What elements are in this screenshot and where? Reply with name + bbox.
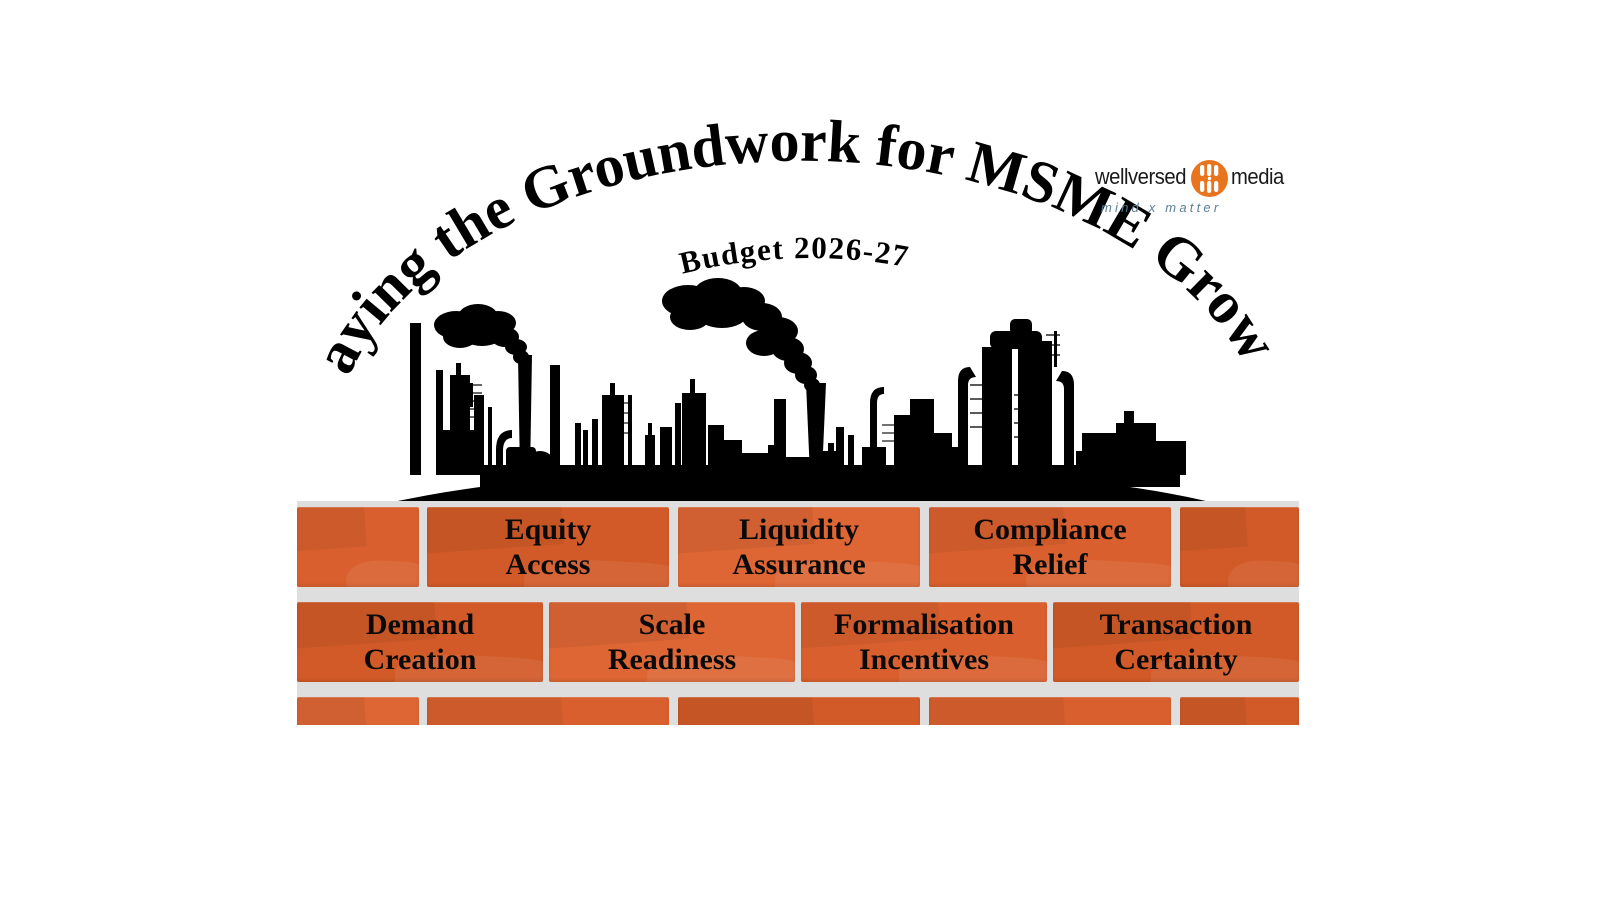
brick-filler [1180, 697, 1299, 725]
logo-tagline: mind x matter [1101, 200, 1221, 215]
brick-filler [678, 697, 920, 725]
brick-pillar[interactable]: Compliance Relief [929, 507, 1171, 587]
brick-pillar[interactable]: Formalisation Incentives [801, 602, 1047, 682]
logo-word-right: media [1231, 164, 1284, 190]
brick-label: Equity Access [499, 512, 598, 583]
brick-row-1: Equity AccessLiquidity AssuranceComplian… [297, 507, 1299, 587]
brick-row-2: Demand CreationScale ReadinessFormalisat… [297, 602, 1299, 682]
brick-pillar[interactable]: Demand Creation [297, 602, 543, 682]
brick-row-3 [297, 697, 1299, 725]
factory-silhouette-svg [370, 275, 1230, 510]
brick-pillar[interactable]: Scale Readiness [549, 602, 795, 682]
brick-label: Formalisation Incentives [828, 607, 1020, 678]
smoke-plume-left [434, 304, 529, 364]
brick-filler [1180, 507, 1299, 587]
brick-filler [929, 697, 1171, 725]
brick-label: Compliance Relief [967, 512, 1132, 583]
industrial-skyline-illustration [370, 275, 1230, 510]
brick-filler [297, 507, 419, 587]
brick-pillar[interactable]: Transaction Certainty [1053, 602, 1299, 682]
brick-pillar[interactable]: Equity Access [427, 507, 669, 587]
brick-pillar[interactable]: Liquidity Assurance [678, 507, 920, 587]
brick-label: Transaction Certainty [1094, 607, 1259, 678]
brick-filler [297, 697, 419, 725]
brick-label: Demand Creation [358, 607, 483, 678]
logo-wordmark-row: wellversed media [1095, 160, 1295, 194]
poster-canvas: Laying the Groundwork for MSME Growth Bu… [0, 0, 1600, 900]
circle-emblem-icon [1191, 160, 1228, 197]
brick-label: Scale Readiness [602, 607, 742, 678]
logo-word-left: wellversed [1095, 164, 1186, 190]
brick-label: Liquidity Assurance [726, 512, 871, 583]
brick-wall: Equity AccessLiquidity AssuranceComplian… [297, 501, 1299, 725]
smoke-plume-right [662, 278, 820, 392]
brand-logo[interactable]: wellversed media mind x matter [1095, 160, 1295, 222]
page-subtitle: Budget 2026-27 [676, 230, 912, 281]
brick-filler [427, 697, 669, 725]
